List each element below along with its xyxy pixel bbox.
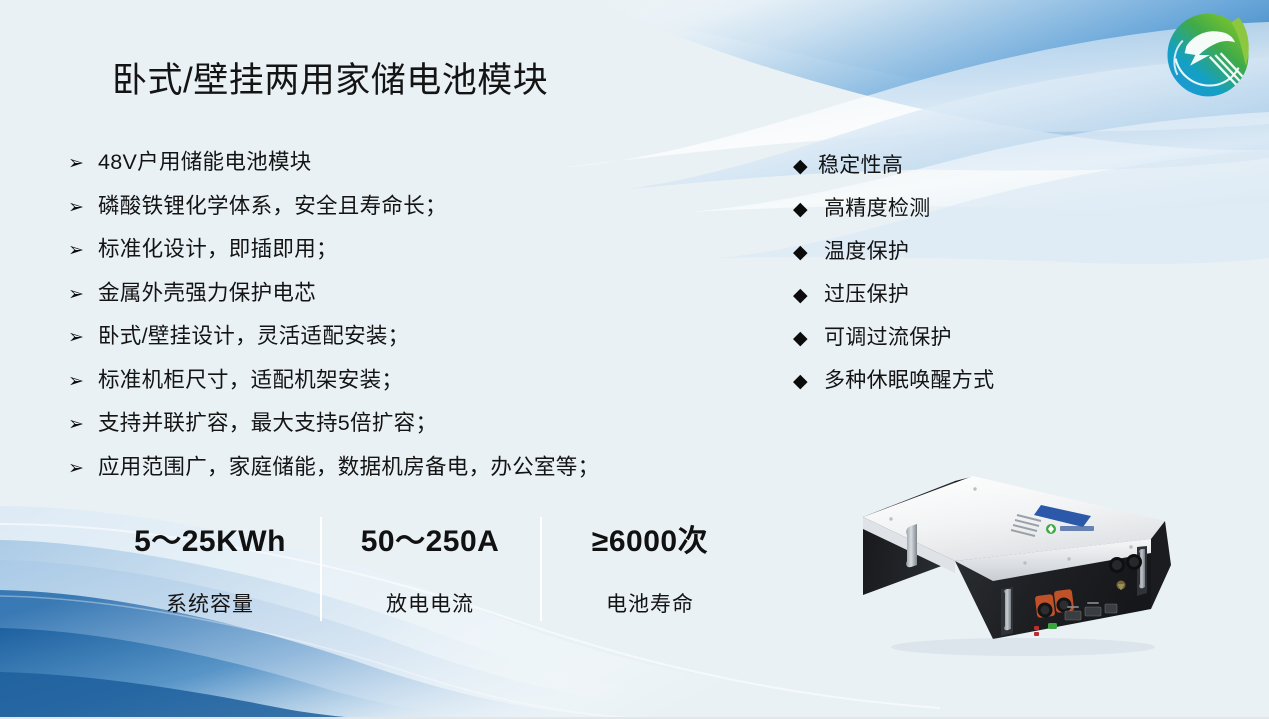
list-item: ➢ 金属外壳强力保护电芯	[68, 283, 708, 327]
list-item-label: 过压保护	[824, 284, 909, 305]
list-item-label: 可调过流保护	[824, 327, 952, 348]
list-item: ◆ 过压保护	[793, 284, 1133, 327]
arrow-bullet-icon: ➢	[68, 285, 98, 304]
diamond-bullet-icon: ◆	[793, 157, 818, 176]
list-item: ➢ 标准机柜尺寸，适配机架安装；	[68, 370, 708, 414]
arrow-bullet-icon: ➢	[68, 459, 98, 478]
company-logo	[1163, 10, 1253, 100]
diamond-bullet-icon: ◆	[793, 372, 824, 391]
arrow-bullet-icon: ➢	[68, 154, 98, 173]
spec-highlights: 5～25KWh 系统容量 50～250A 放电电流 ≥6000次 电池寿命	[100, 513, 760, 625]
spec-cycle-life: ≥6000次 电池寿命	[540, 513, 760, 625]
spec-value: ≥6000次	[592, 527, 708, 557]
list-item-label: 温度保护	[824, 241, 909, 262]
spec-value: 50～250A	[361, 527, 500, 557]
list-item: ◆ 高精度检测	[793, 198, 1133, 241]
battery-module-photo	[855, 443, 1185, 668]
list-item-label: 48V户用储能电池模块	[98, 152, 312, 174]
list-item: ➢ 卧式/壁挂设计，灵活适配安装；	[68, 326, 708, 370]
list-item: ◆ 温度保护	[793, 241, 1133, 284]
list-item: ➢ 应用范围广，家庭储能，数据机房备电，办公室等；	[68, 457, 708, 501]
list-item: ➢ 磷酸铁锂化学体系，安全且寿命长；	[68, 196, 708, 240]
diamond-bullet-icon: ◆	[793, 286, 824, 305]
spec-capacity: 5～25KWh 系统容量	[100, 513, 320, 625]
list-item-label: 支持并联扩容，最大支持5倍扩容；	[98, 413, 437, 435]
list-item-label: 多种休眠唤醒方式	[824, 370, 994, 391]
list-item-label: 标准机柜尺寸，适配机架安装；	[98, 370, 403, 392]
arrow-bullet-icon: ➢	[68, 198, 98, 217]
list-item: ◆ 多种休眠唤醒方式	[793, 370, 1133, 413]
feature-list-left: ➢ 48V户用储能电池模块 ➢ 磷酸铁锂化学体系，安全且寿命长； ➢ 标准化设计…	[68, 152, 708, 500]
list-item: ◆ 稳定性高	[793, 155, 1133, 198]
list-item: ➢ 支持并联扩容，最大支持5倍扩容；	[68, 413, 708, 457]
list-item-label: 标准化设计，即插即用；	[98, 239, 338, 261]
list-item: ➢ 标准化设计，即插即用；	[68, 239, 708, 283]
list-item-label: 磷酸铁锂化学体系，安全且寿命长；	[98, 196, 447, 218]
list-item-label: 金属外壳强力保护电芯	[98, 283, 316, 305]
arrow-bullet-icon: ➢	[68, 241, 98, 260]
spec-label: 电池寿命	[606, 594, 694, 615]
diamond-bullet-icon: ◆	[793, 243, 824, 262]
feature-list-right: ◆ 稳定性高 ◆ 高精度检测 ◆ 温度保护 ◆ 过压保护 ◆ 可调过流保护 ◆ …	[793, 155, 1133, 413]
list-item-label: 卧式/壁挂设计，灵活适配安装；	[98, 326, 409, 348]
spec-label: 放电电流	[386, 594, 474, 615]
list-item-label: 应用范围广，家庭储能，数据机房备电，办公室等；	[98, 457, 599, 479]
slide-canvas: 卧式/壁挂两用家储电池模块 ➢ 48V户用储能电池模块 ➢ 磷酸铁锂化学体系，安…	[0, 0, 1269, 719]
list-item: ◆ 可调过流保护	[793, 327, 1133, 370]
arrow-bullet-icon: ➢	[68, 415, 98, 434]
list-item-label: 稳定性高	[818, 155, 903, 176]
diamond-bullet-icon: ◆	[793, 329, 824, 348]
diamond-bullet-icon: ◆	[793, 200, 824, 219]
page-title: 卧式/壁挂两用家储电池模块	[112, 57, 548, 105]
list-item-label: 高精度检测	[824, 198, 931, 219]
list-item: ➢ 48V户用储能电池模块	[68, 152, 708, 196]
arrow-bullet-icon: ➢	[68, 328, 98, 347]
spec-value: 5～25KWh	[134, 527, 286, 557]
arrow-bullet-icon: ➢	[68, 372, 98, 391]
spec-discharge-current: 50～250A 放电电流	[320, 513, 540, 625]
spec-label: 系统容量	[166, 594, 254, 615]
